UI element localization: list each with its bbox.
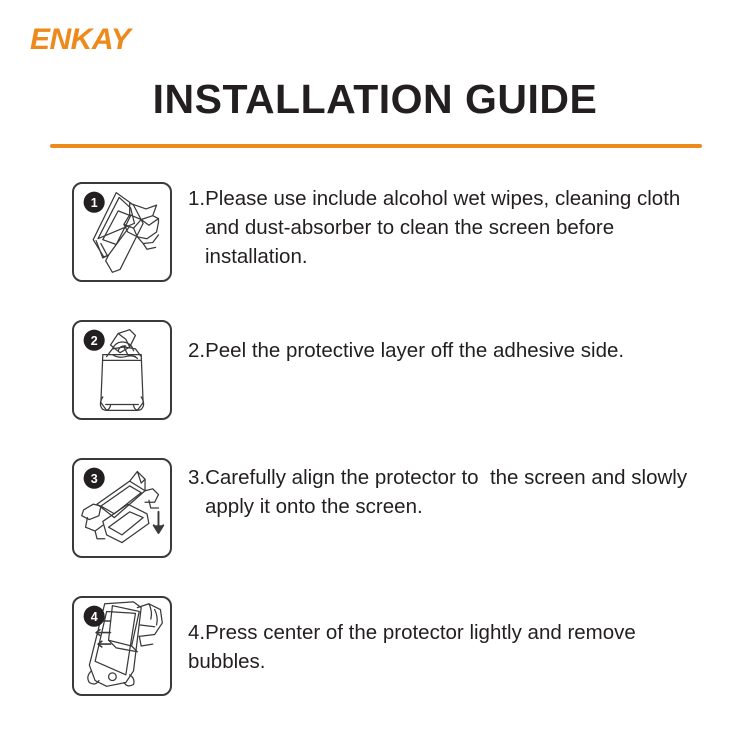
brand-logo-text: ENKAY bbox=[30, 22, 170, 58]
step-item: 4 4.Press center of the protector lightl… bbox=[0, 592, 750, 730]
phone-wipe-clean-icon: 1 bbox=[74, 184, 170, 280]
peel-protective-layer-icon: 2 bbox=[74, 322, 170, 418]
step-1-badge-number: 1 bbox=[91, 196, 98, 210]
brand-logo: ENKAY bbox=[30, 22, 170, 58]
step-item: 1 1.Please use include alcohol wet wipes… bbox=[0, 178, 750, 316]
step-4-icon-box: 4 bbox=[72, 596, 172, 696]
step-item: 2 2.Peel the protective layer off the ad… bbox=[0, 316, 750, 454]
press-remove-bubbles-icon: 4 bbox=[74, 598, 170, 694]
title-divider bbox=[50, 144, 702, 148]
step-item: 3 3.Carefully align the protector to the… bbox=[0, 454, 750, 592]
step-3-icon-box: 3 bbox=[72, 458, 172, 558]
step-1-text: 1.Please use include alcohol wet wipes, … bbox=[188, 184, 705, 271]
step-3-badge-number: 3 bbox=[91, 472, 98, 486]
align-protector-icon: 3 bbox=[74, 460, 170, 556]
step-4-badge-number: 4 bbox=[91, 610, 98, 624]
step-2-icon-box: 2 bbox=[72, 320, 172, 420]
step-2-text: 2.Peel the protective layer off the adhe… bbox=[188, 336, 688, 365]
step-1-icon-box: 1 bbox=[72, 182, 172, 282]
page-title: INSTALLATION GUIDE bbox=[0, 74, 750, 124]
step-4-text: 4.Press center of the protector lightly … bbox=[188, 618, 688, 676]
steps-list: 1 1.Please use include alcohol wet wipes… bbox=[0, 178, 750, 730]
step-2-badge-number: 2 bbox=[91, 334, 98, 348]
step-3-text: 3.Carefully align the protector to the s… bbox=[188, 463, 705, 521]
